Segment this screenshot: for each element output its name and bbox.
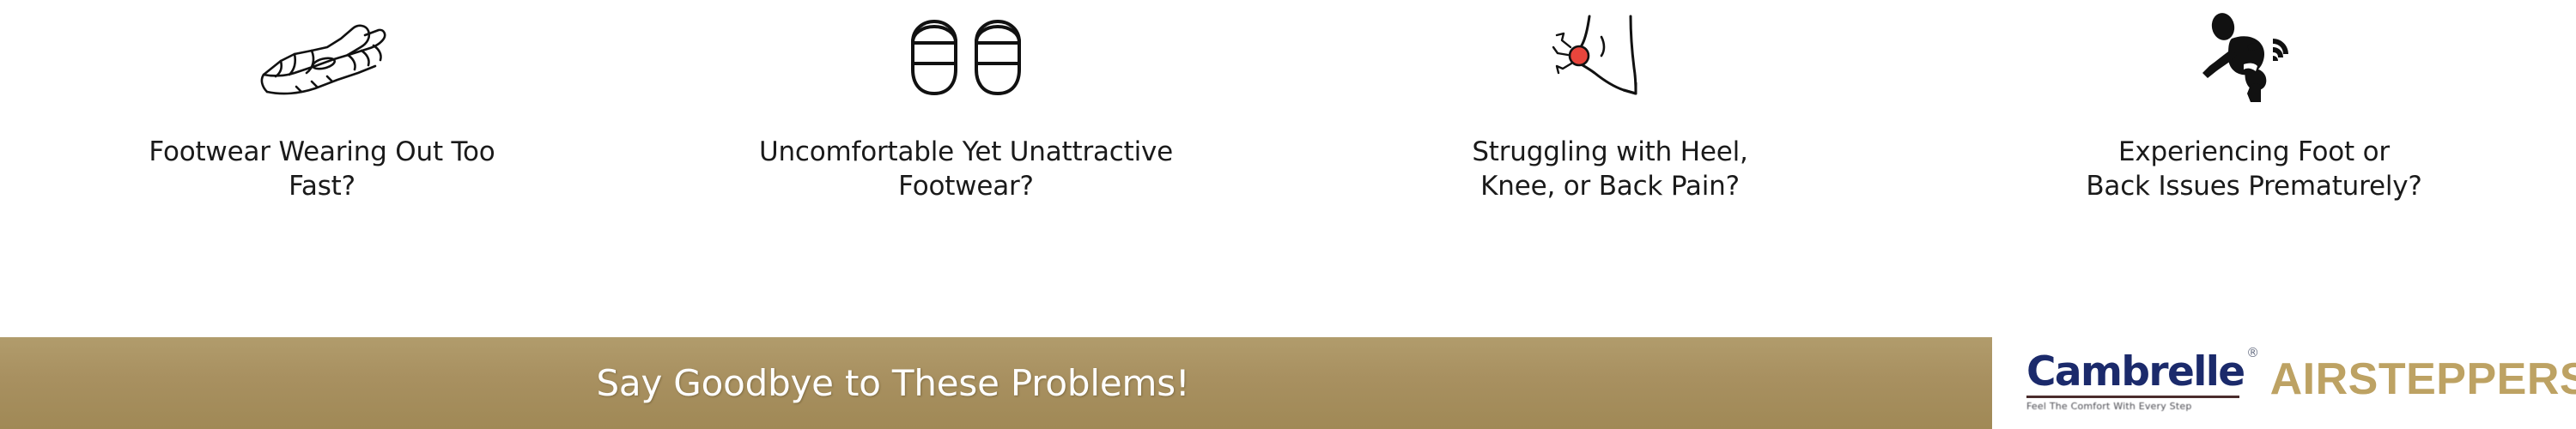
cambrelle-logo: Cambrelle ® Feel The Comfort With Every …	[2026, 352, 2245, 412]
problem-panel-heel-knee-back-pain[interactable]: Struggling with Heel, Knee, or Back Pain…	[1288, 0, 1932, 337]
problem-panel-caption: Experiencing Foot or Back Issues Prematu…	[2031, 135, 2477, 204]
problem-panel-premature-issues[interactable]: Experiencing Foot or Back Issues Prematu…	[1932, 0, 2576, 337]
cambrelle-wordmark-text: Cambrelle	[2026, 348, 2245, 396]
brand-logos: Cambrelle ® Feel The Comfort With Every …	[1992, 337, 2576, 429]
cambrelle-tagline: Feel The Comfort With Every Step	[2026, 401, 2192, 412]
heel-pain-foot-icon	[1516, 12, 1704, 102]
problem-panel-caption: Uncomfortable Yet Unattractive Footwear?	[743, 135, 1189, 204]
problem-panel-footwear-wear[interactable]: Footwear Wearing Out Too Fast?	[0, 0, 644, 337]
back-pain-person-icon	[2160, 12, 2348, 102]
problem-panel-caption: Struggling with Heel, Knee, or Back Pain…	[1387, 135, 1833, 204]
bottom-strip: Say Goodbye to These Problems! Cambrelle…	[0, 337, 2576, 429]
problem-panel-caption: Footwear Wearing Out Too Fast?	[99, 135, 545, 204]
cambrelle-wordmark: Cambrelle ®	[2026, 352, 2245, 392]
cambrelle-underline-divider	[2026, 396, 2239, 398]
airsteppers-logo: AIRSTEPPERS	[2270, 353, 2576, 405]
problem-panel-uncomfortable-footwear[interactable]: Uncomfortable Yet Unattractive Footwear?	[644, 0, 1288, 337]
slippers-icon	[872, 12, 1060, 102]
sandal-icon	[228, 12, 416, 102]
registered-trademark-icon: ®	[2246, 347, 2257, 360]
tagline-banner: Say Goodbye to These Problems!	[0, 337, 1992, 429]
tagline-banner-text: Say Goodbye to These Problems!	[596, 362, 1189, 404]
problem-panels-row: Footwear Wearing Out Too Fast? Uncomfort…	[0, 0, 2576, 337]
